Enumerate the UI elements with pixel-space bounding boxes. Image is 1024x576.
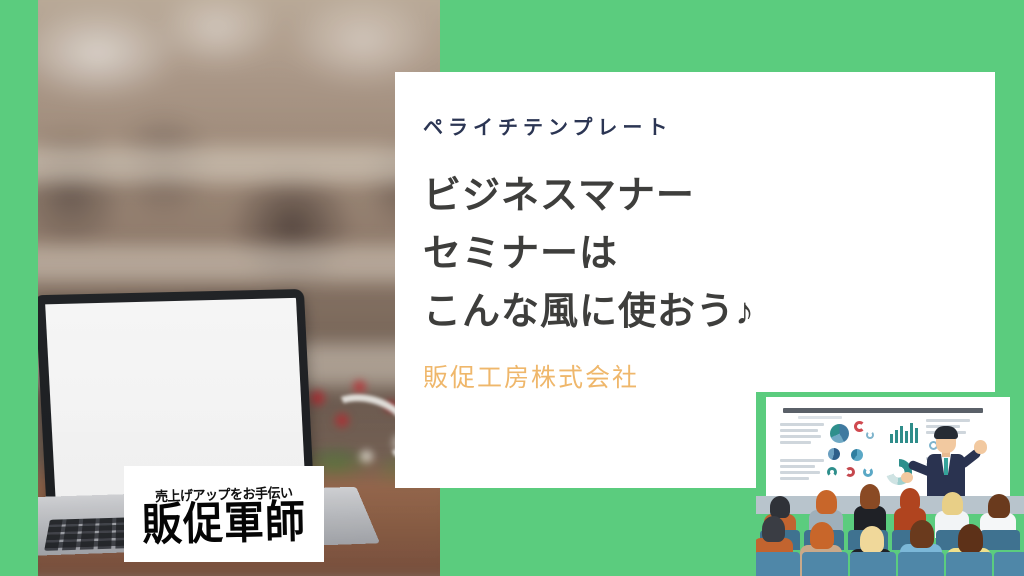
donut-chart-2 bbox=[866, 431, 874, 439]
presenter-left-hand bbox=[901, 472, 913, 483]
donut-chart-1 bbox=[854, 421, 865, 432]
chair bbox=[850, 552, 896, 576]
logo-name: 販促軍師 bbox=[142, 500, 307, 548]
presenter-hair bbox=[934, 426, 958, 439]
chair bbox=[946, 552, 992, 576]
donut-chart-3 bbox=[827, 467, 837, 477]
whiteboard-text-col-1 bbox=[780, 423, 824, 447]
presenter-right-hand bbox=[974, 440, 987, 454]
eyebrow-text: ペライチテンプレート bbox=[423, 116, 971, 140]
brand-logo: 売上げアップをお手伝い 販促軍師 bbox=[124, 466, 324, 562]
whiteboard-rail bbox=[783, 408, 983, 413]
pie-chart-3 bbox=[851, 449, 863, 461]
whiteboard-heading-line bbox=[798, 416, 842, 422]
chair bbox=[898, 552, 944, 576]
page-title: ビジネスマナー セミナーは こんな風に使おう♪ bbox=[423, 168, 971, 341]
headline-line-1: ビジネスマナー bbox=[423, 168, 971, 226]
headline-line-3: こんな風に使おう♪ bbox=[423, 284, 971, 342]
audience-area bbox=[756, 500, 1024, 576]
seminar-illustration bbox=[756, 392, 1024, 576]
headline-line-2: セミナーは bbox=[423, 226, 971, 284]
presenter-tie bbox=[944, 458, 948, 475]
chair bbox=[994, 552, 1024, 576]
slide-canvas: 売上げアップをお手伝い 販促軍師 ペライチテンプレート ビジネスマナー セミナー… bbox=[0, 0, 1024, 576]
pie-chart-2 bbox=[828, 448, 840, 460]
company-name: 販促工房株式会社 bbox=[423, 363, 971, 393]
chair bbox=[980, 530, 1020, 550]
whiteboard-text-col-2 bbox=[780, 459, 824, 483]
card-inner: ペライチテンプレート ビジネスマナー セミナーは こんな風に使おう♪ 販促工房株… bbox=[423, 116, 971, 393]
chair bbox=[802, 552, 848, 576]
donut-chart-4 bbox=[845, 467, 855, 477]
donut-chart-5 bbox=[863, 467, 873, 477]
pie-chart-1 bbox=[830, 424, 849, 443]
chair bbox=[756, 552, 800, 576]
back-wall bbox=[756, 496, 1024, 514]
